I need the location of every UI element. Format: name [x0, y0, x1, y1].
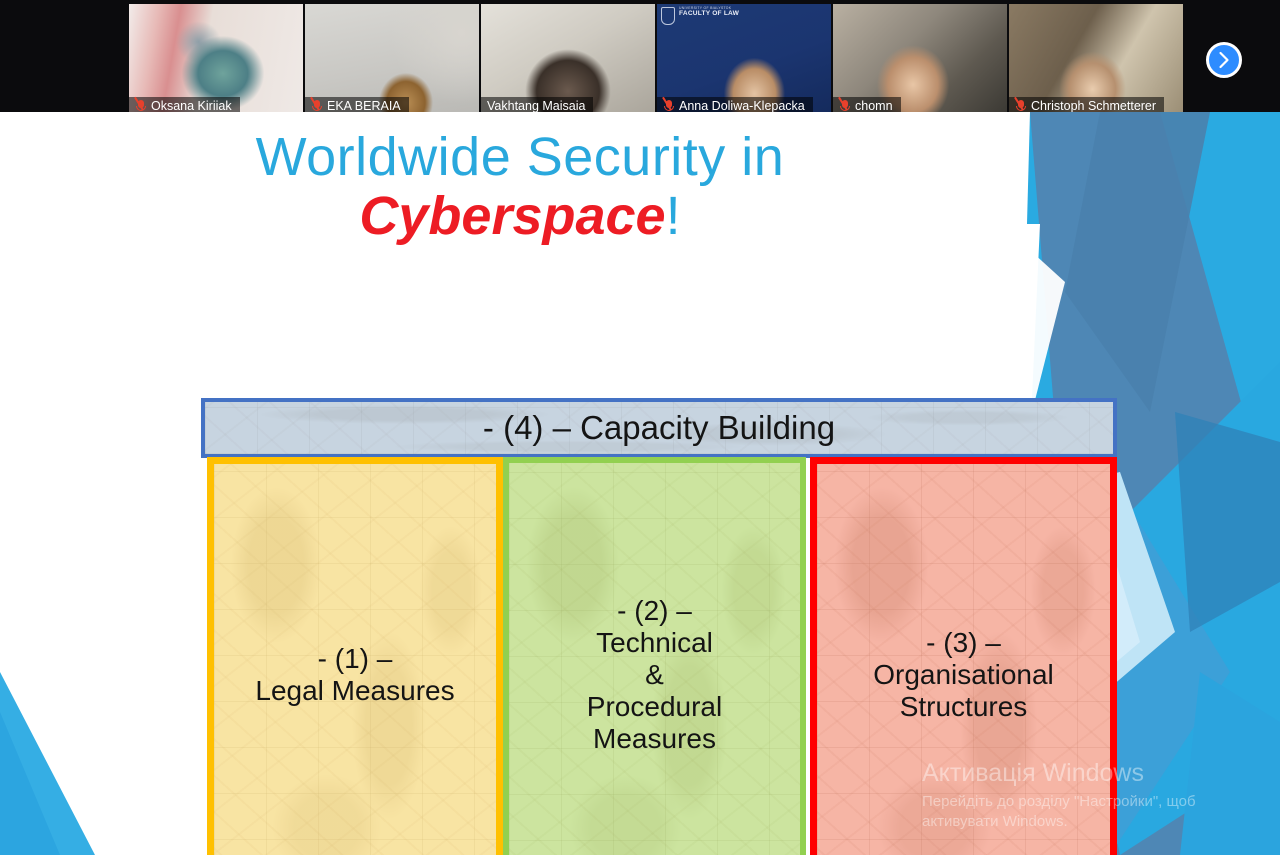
participant-tile-1[interactable]: EKA BERAIA	[305, 4, 479, 116]
chevron-right-icon	[1217, 51, 1231, 69]
pillar-legal-measures[interactable]: - (1) –Legal Measures	[207, 457, 503, 855]
participant-name-0: Oksana Kiriiak	[151, 99, 232, 113]
pillar-capacity-building[interactable]: - (4) – Capacity Building	[201, 398, 1117, 458]
participant-tile-4[interactable]: chomn	[833, 4, 1007, 116]
microphone-muted-icon	[311, 99, 322, 113]
pillar-organisational-structures[interactable]: - (3) –OrganisationalStructures	[810, 457, 1117, 855]
presentation-slide: Worldwide Security in Cyberspace! - (4) …	[0, 112, 1280, 855]
microphone-muted-icon	[663, 99, 674, 113]
university-crest-icon	[661, 7, 675, 25]
microphone-muted-icon	[135, 99, 146, 113]
participant-tile-2[interactable]: Vakhtang Maisaia	[481, 4, 655, 116]
participant-tile-0[interactable]: Oksana Kiriiak	[129, 4, 303, 116]
pillar-organisational-structures-label: - (3) –OrganisationalStructures	[817, 464, 1110, 855]
video-filmstrip: Oksana Kiriiak EKA BERAIA Vakhtang Maisa…	[0, 0, 1280, 112]
participant-tiles: Oksana Kiriiak EKA BERAIA Vakhtang Maisa…	[128, 0, 1184, 112]
next-participants-button[interactable]	[1206, 42, 1242, 78]
pillar-capacity-building-label: - (4) – Capacity Building	[205, 402, 1113, 454]
university-name: UNIVERSITY OF BIALYSTOK	[679, 7, 739, 10]
microphone-muted-icon	[839, 99, 850, 113]
participant-tile-3[interactable]: UNIVERSITY OF BIALYSTOK FACULTY OF LAW A…	[657, 4, 831, 116]
participant-tile-5[interactable]: Christoph Schmetterer	[1009, 4, 1183, 116]
participant-name-5: Christoph Schmetterer	[1031, 99, 1156, 113]
microphone-muted-icon	[1015, 99, 1026, 113]
filmstrip-left-padding	[0, 0, 128, 112]
pillar-legal-measures-label: - (1) –Legal Measures	[214, 464, 496, 855]
pillar-technical-procedural-measures[interactable]: - (2) –Technical&ProceduralMeasures	[503, 457, 806, 855]
participant-name-2: Vakhtang Maisaia	[487, 99, 585, 113]
screen: Oksana Kiriiak EKA BERAIA Vakhtang Maisa…	[0, 0, 1280, 855]
participant-name-4: chomn	[855, 99, 893, 113]
pillar-technical-procedural-measures-label: - (2) –Technical&ProceduralMeasures	[509, 463, 800, 855]
participant-name-3: Anna Doliwa-Klepacka	[679, 99, 805, 113]
university-branding-overlay: UNIVERSITY OF BIALYSTOK FACULTY OF LAW	[661, 7, 739, 25]
faculty-name: FACULTY OF LAW	[679, 11, 739, 18]
participant-name-1: EKA BERAIA	[327, 99, 401, 113]
